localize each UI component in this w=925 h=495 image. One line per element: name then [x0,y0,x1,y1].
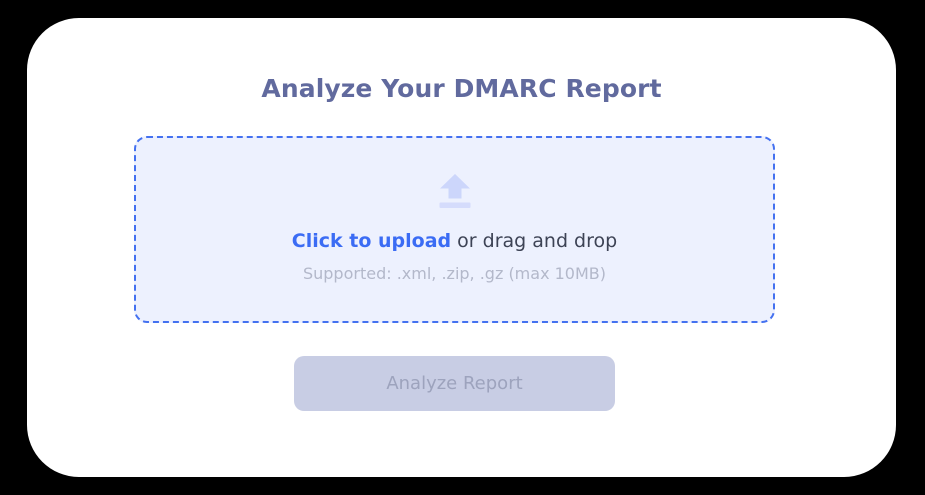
dropzone-content: Click to upload or drag and drop Support… [136,138,773,321]
dropzone-primary-text: Click to upload or drag and drop [292,228,617,254]
app-root: Analyze Your DMARC Report Click to uploa… [0,0,925,495]
page-title: Analyze Your DMARC Report [27,73,896,105]
analyze-report-button[interactable]: Analyze Report [294,356,615,411]
upload-card: Analyze Your DMARC Report Click to uploa… [27,18,896,477]
supported-formats-text: Supported: .xml, .zip, .gz (max 10MB) [303,263,606,285]
upload-arrow-icon [436,174,474,208]
drag-and-drop-text: or drag and drop [451,230,617,252]
click-to-upload-link[interactable]: Click to upload [292,230,451,252]
file-dropzone[interactable]: Click to upload or drag and drop Support… [134,136,775,323]
